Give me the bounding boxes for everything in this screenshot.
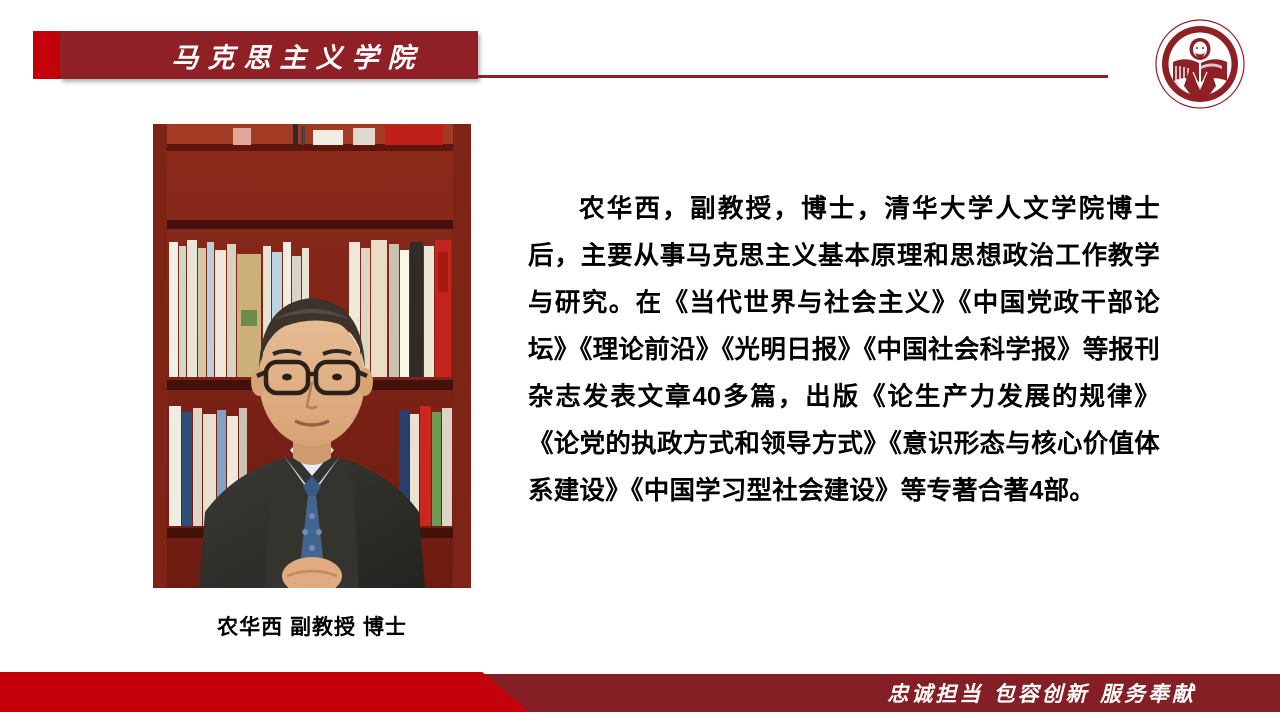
header-banner: 马克思主义学院 [60, 31, 478, 79]
university-emblem-icon: 南宁师范大学马克思主义学院 NANNING NORMAL UNIVERSITY [1152, 16, 1248, 112]
portrait-photo [153, 124, 471, 588]
portrait-block: 农华西 副教授 博士 [153, 124, 471, 588]
slide-header: 马克思主义学院 [0, 0, 1280, 120]
footer-accent-shape [0, 672, 530, 712]
header-divider-line [478, 75, 1108, 78]
biography-paragraph: 农华西，副教授，博士，清华大学人文学院博士后，主要从事马克思主义基本原理和思想政… [528, 186, 1160, 515]
presentation-slide: 马克思主义学院 [0, 0, 1280, 720]
header-title: 马克思主义学院 [60, 31, 478, 79]
slide-footer: 忠诚担当 包容创新 服务奉献 [0, 672, 1280, 720]
footer-slogan: 忠诚担当 包容创新 服务奉献 [887, 674, 1196, 712]
portrait-caption: 农华西 副教授 博士 [123, 611, 501, 641]
